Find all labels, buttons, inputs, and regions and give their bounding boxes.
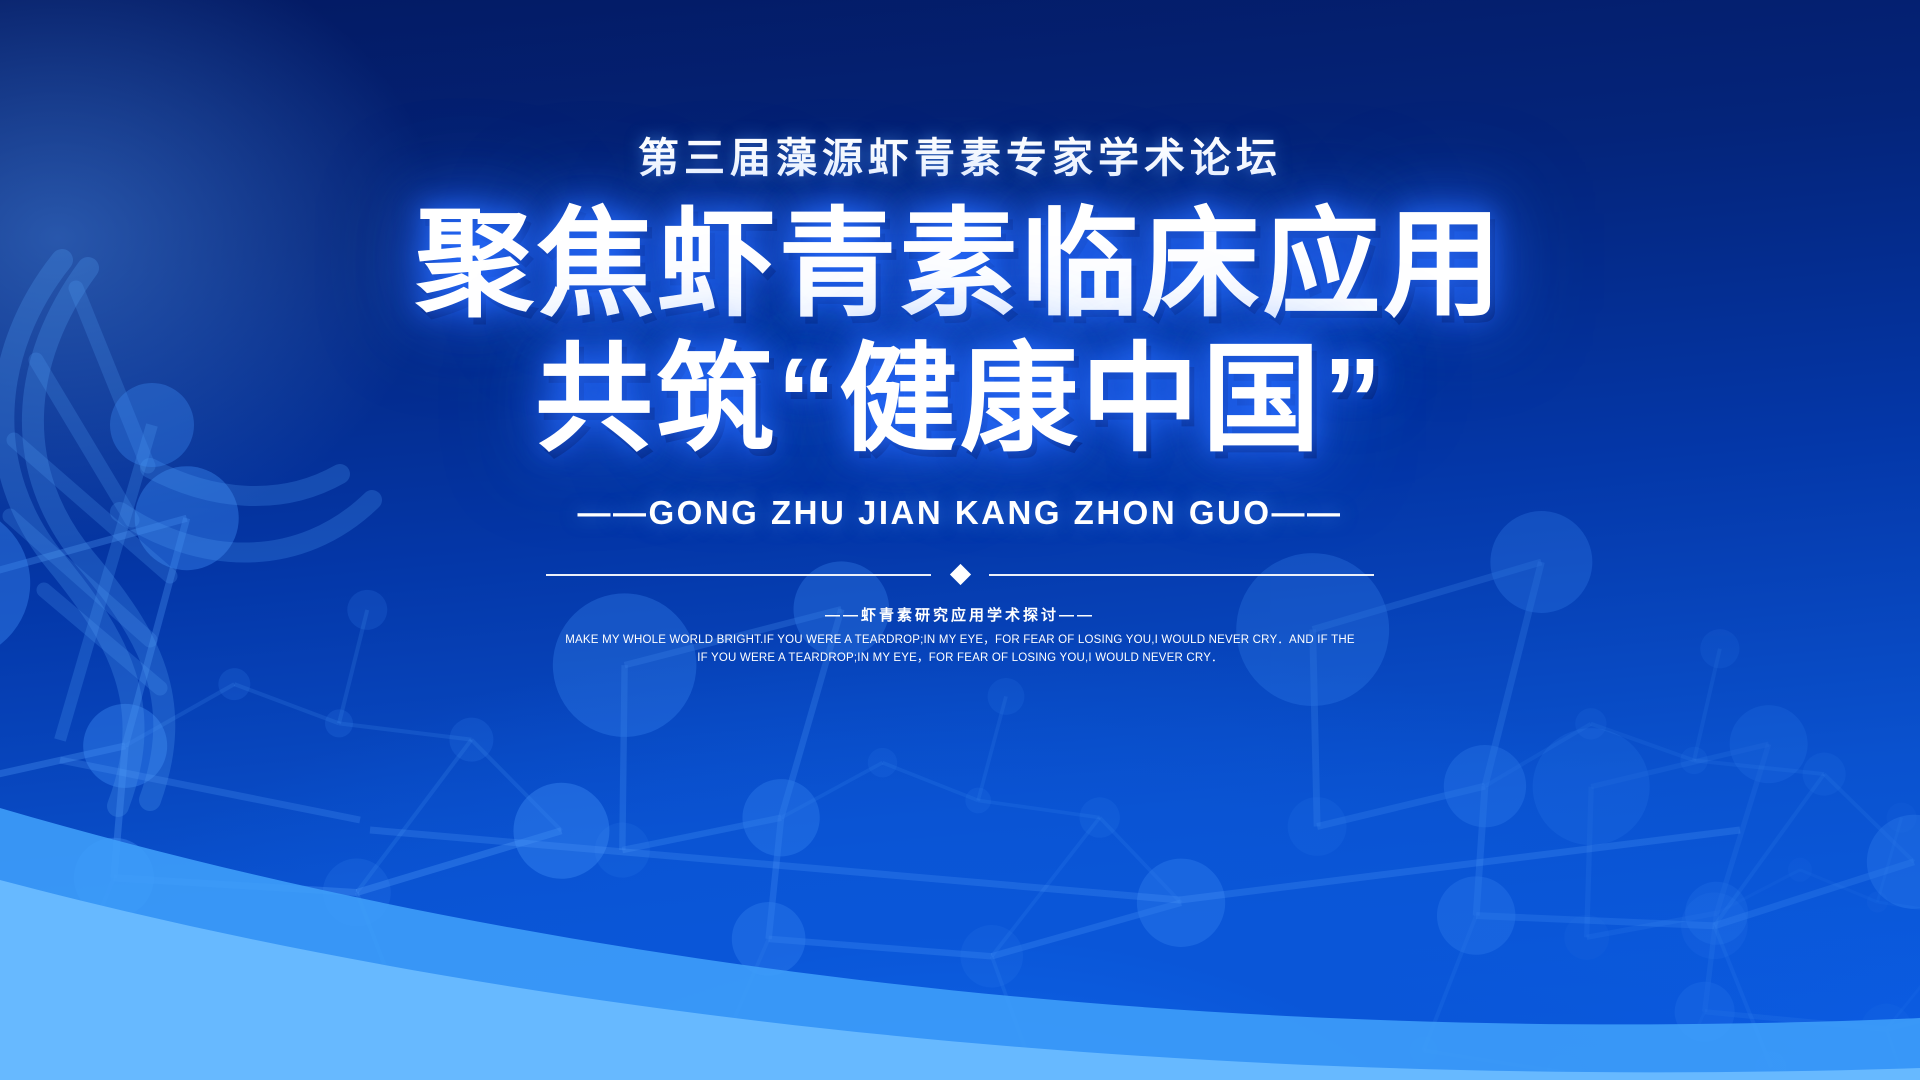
divider: [546, 562, 1374, 588]
poster-content: 第三届藻源虾青素专家学术论坛 聚焦虾青素临床应用 共筑“健康中国” ——GONG…: [0, 124, 1920, 668]
main-title: 聚焦虾青素临床应用 共筑“健康中国”: [0, 200, 1920, 466]
poster-canvas: 第三届藻源虾青素专家学术论坛 聚焦虾青素临床应用 共筑“健康中国” ——GONG…: [0, 0, 1920, 1080]
english-caption-line-2: IF YOU WERE A TEARDROP;IN MY EYE，FOR FEA…: [0, 650, 1920, 668]
divider-rule-right: [989, 574, 1374, 576]
diamond-icon: [949, 564, 970, 585]
english-caption: MAKE MY WHOLE WORLD BRIGHT.IF YOU WERE A…: [0, 632, 1920, 668]
wave-band-icon: [0, 750, 1920, 1080]
english-caption-line-1: MAKE MY WHOLE WORLD BRIGHT.IF YOU WERE A…: [0, 632, 1920, 650]
event-subtitle: 第三届藻源虾青素专家学术论坛: [0, 124, 1920, 184]
divider-rule-left: [546, 574, 931, 576]
pinyin-subtitle: ——GONG ZHU JIAN KANG ZHON GUO——: [0, 494, 1920, 532]
title-line-1: 聚焦虾青素临床应用: [0, 200, 1920, 331]
title-line-2: 共筑“健康中国”: [0, 335, 1920, 466]
chinese-caption: ——虾青素研究应用学术探讨——: [0, 604, 1920, 625]
